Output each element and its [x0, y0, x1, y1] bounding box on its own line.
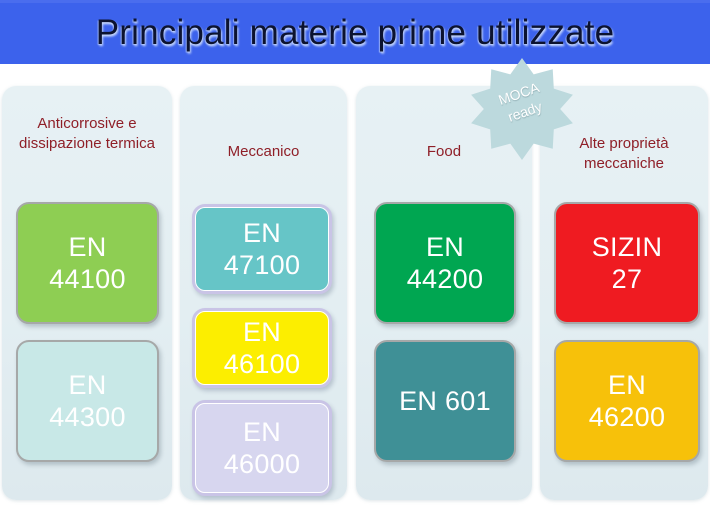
material-box-en-47100[interactable]: EN 47100	[192, 204, 332, 294]
material-label-line2: 46000	[224, 448, 301, 480]
category-panel-anticorrosive[interactable]: Anticorrosive e dissipazione termica EN …	[2, 86, 172, 500]
material-box-en-44100[interactable]: EN 44100	[16, 202, 159, 324]
category-title-anticorrosive: Anticorrosive e dissipazione termica	[8, 114, 166, 154]
material-label-line1: EN	[407, 231, 484, 263]
material-label-line2: 46200	[589, 401, 666, 433]
material-label-line2: 27	[592, 263, 663, 295]
title-band: Principali materie prime utilizzate	[0, 0, 710, 64]
material-box-en-46200[interactable]: EN 46200	[554, 340, 700, 462]
material-box-en-44200[interactable]: EN 44200	[374, 202, 516, 324]
material-box-en-44300[interactable]: EN 44300	[16, 340, 159, 462]
material-label-line1: EN	[49, 231, 126, 263]
material-label-line2: 47100	[224, 249, 301, 281]
material-label-line2: 44300	[49, 401, 126, 433]
material-label-line1: SIZIN	[592, 231, 663, 263]
category-columns: Anticorrosive e dissipazione termica EN …	[0, 64, 710, 514]
material-box-en-46000[interactable]: EN 46000	[192, 400, 332, 496]
material-label-line1: EN	[224, 316, 301, 348]
moca-ready-badge[interactable]: MOCA ready	[469, 58, 575, 160]
material-label-line1: EN	[224, 416, 301, 448]
material-label-line1: EN	[224, 217, 301, 249]
material-label-line1: EN 601	[399, 385, 491, 417]
material-box-sizin-27[interactable]: SIZIN 27	[554, 202, 700, 324]
material-label-line2: 44100	[49, 263, 126, 295]
material-box-en-601[interactable]: EN 601	[374, 340, 516, 462]
page-title: Principali materie prime utilizzate	[0, 10, 710, 55]
material-label-line2: 44200	[407, 263, 484, 295]
category-title-meccanico: Meccanico	[186, 142, 341, 162]
category-panel-meccanico[interactable]: Meccanico EN 47100 EN 46100 EN 46000	[180, 86, 347, 500]
material-label-line1: EN	[589, 369, 666, 401]
material-label-line1: EN	[49, 369, 126, 401]
title-band-topline	[0, 0, 710, 3]
material-label-line2: 46100	[224, 348, 301, 380]
material-box-en-46100[interactable]: EN 46100	[192, 308, 332, 388]
